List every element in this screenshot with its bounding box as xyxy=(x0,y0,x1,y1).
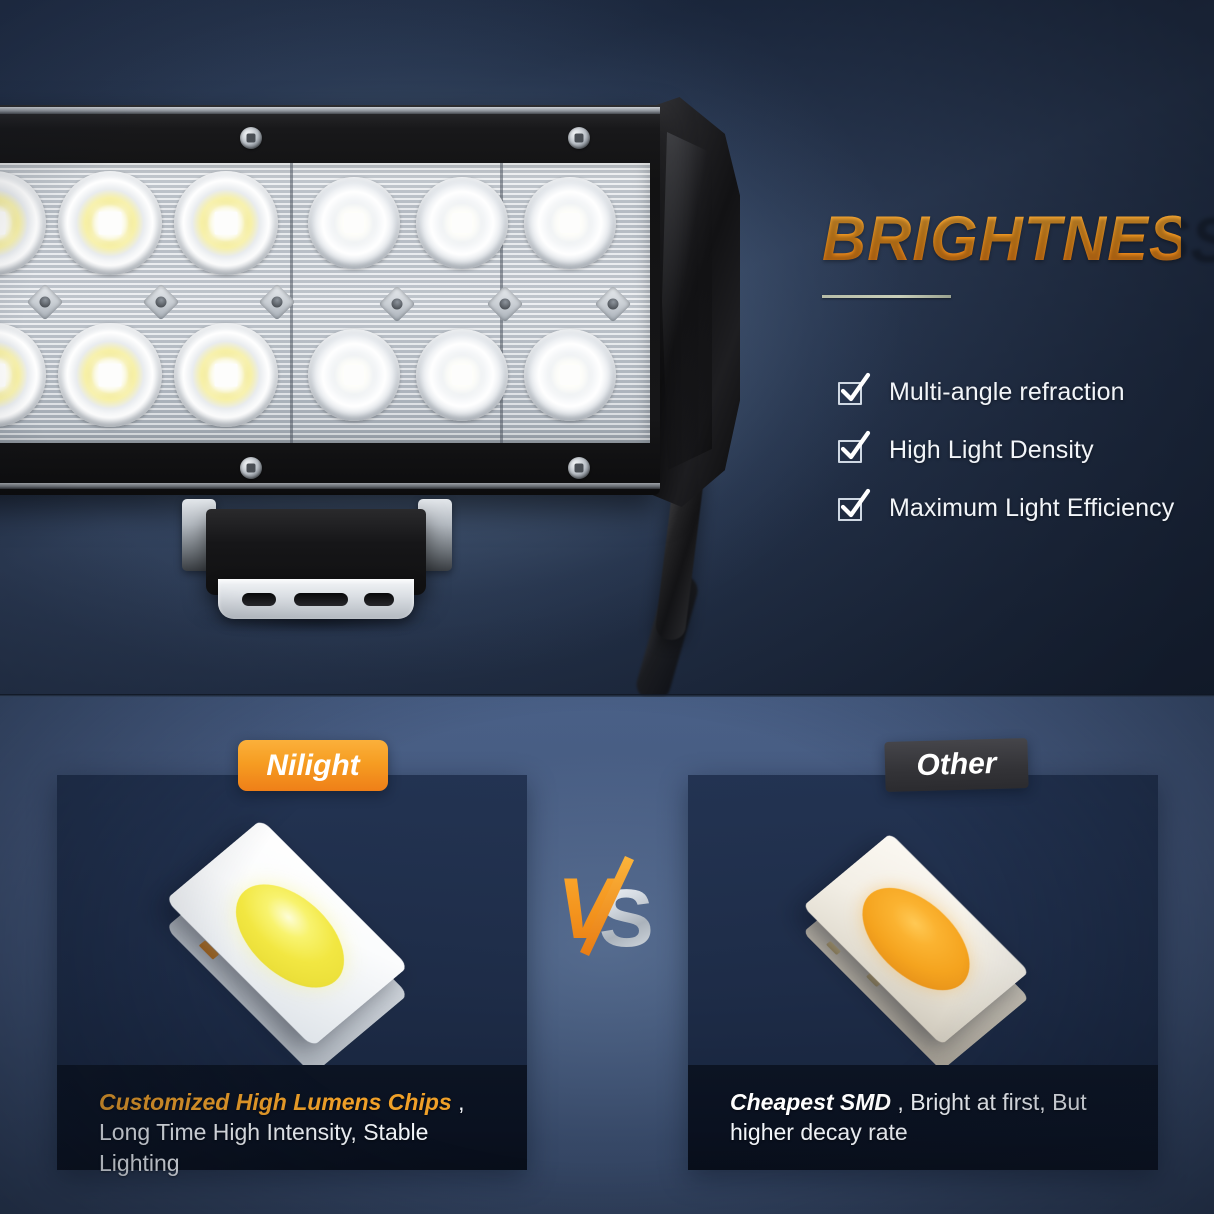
caption-text: Cheapest SMD , Bright at first, But high… xyxy=(730,1087,1128,1148)
checkbox-checked-icon xyxy=(838,438,865,464)
light-bar-lens xyxy=(0,163,650,443)
caption-bar-other: Cheapest SMD , Bright at first, But high… xyxy=(688,1065,1158,1170)
housing-screw xyxy=(240,127,262,149)
badge-nilight: Nilight xyxy=(238,740,388,791)
caption-bar-nilight: Customized High Lumens Chips , Long Time… xyxy=(57,1065,527,1170)
housing-screw xyxy=(568,127,590,149)
comparison-panel-nilight: Customized High Lumens Chips , Long Time… xyxy=(57,775,527,1170)
feature-label: High Light Density xyxy=(889,436,1094,465)
light-bar-housing xyxy=(0,105,660,495)
product-marketing-image: BRIGHTNESS Multi-angle refraction High L… xyxy=(0,0,1214,1214)
badge-other: Other xyxy=(884,738,1028,792)
housing-screw xyxy=(240,457,262,479)
page-title: BRIGHTNESS xyxy=(822,208,1181,271)
versus-mark: V S xyxy=(555,852,675,962)
checkbox-checked-icon xyxy=(838,496,865,522)
brightness-hero-section: BRIGHTNESS Multi-angle refraction High L… xyxy=(0,0,1214,697)
housing-screw xyxy=(568,457,590,479)
feature-item: Maximum Light Efficiency xyxy=(838,486,1214,531)
svg-text:S: S xyxy=(599,873,654,962)
other-led-chip-image xyxy=(688,775,1158,1065)
caption-text: Customized High Lumens Chips , Long Time… xyxy=(99,1087,497,1178)
title-underline-rule xyxy=(822,295,951,298)
nilight-led-chip-image xyxy=(57,775,527,1065)
caption-emphasis: Customized High Lumens Chips xyxy=(99,1089,452,1115)
badge-nilight-label: Nilight xyxy=(266,749,359,783)
headline-block: BRIGHTNESS xyxy=(822,208,1192,298)
mounting-bracket xyxy=(182,495,452,635)
feature-item: Multi-angle refraction xyxy=(838,370,1214,415)
badge-other-label: Other xyxy=(916,747,997,783)
feature-label: Maximum Light Efficiency xyxy=(889,494,1174,523)
feature-label: Multi-angle refraction xyxy=(889,378,1125,407)
led-light-bar-image xyxy=(0,105,760,505)
feature-item: High Light Density xyxy=(838,428,1214,473)
comparison-panel-other: Cheapest SMD , Bright at first, But high… xyxy=(688,775,1158,1170)
caption-emphasis: Cheapest SMD xyxy=(730,1089,891,1115)
checkbox-checked-icon xyxy=(838,380,865,406)
feature-list: Multi-angle refraction High Light Densit… xyxy=(838,370,1214,544)
